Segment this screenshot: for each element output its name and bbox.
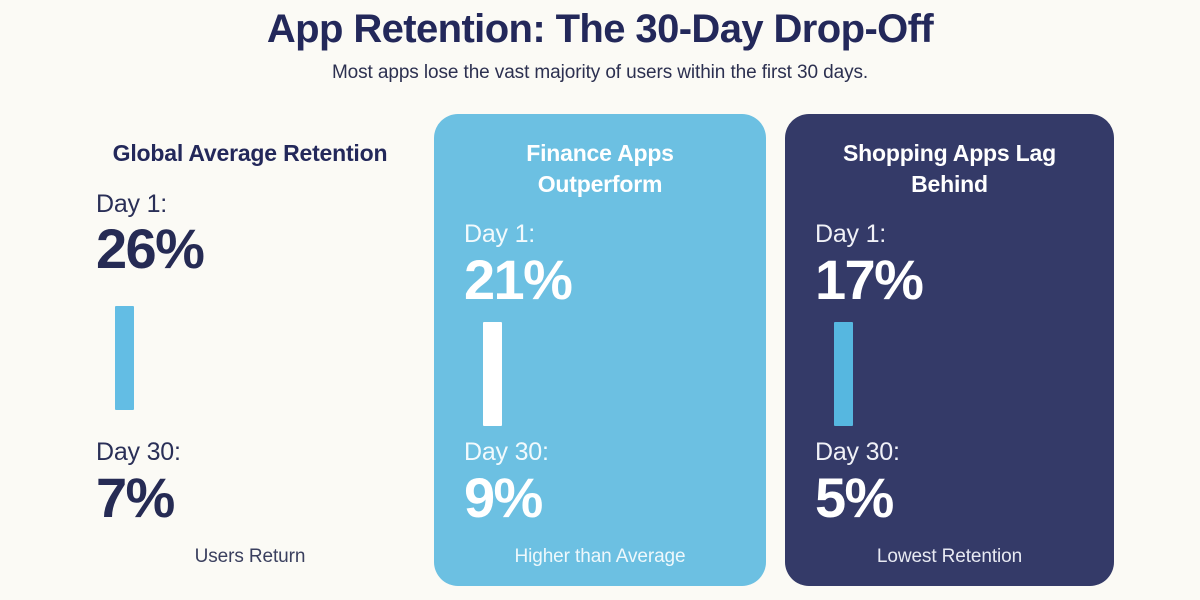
day1-value: 17% <box>815 251 1084 308</box>
day30-value: 7% <box>96 469 404 526</box>
retention-bar <box>115 306 134 410</box>
day1-label: Day 1: <box>96 191 404 219</box>
day30-value: 5% <box>815 469 1084 526</box>
day1-value: 26% <box>96 220 404 277</box>
stat-card-global-average: Global Average Retention Day 1: 26% Day … <box>66 114 434 586</box>
stat-card-finance-apps: Finance Apps Outperform Day 1: 21% Day 3… <box>434 114 766 586</box>
day30-value: 9% <box>464 469 736 526</box>
day30-stat-block: Day 30: 5% <box>815 439 1084 526</box>
card-heading: Finance Apps Outperform <box>464 138 736 199</box>
stat-cards-row: Global Average Retention Day 1: 26% Day … <box>0 114 1200 586</box>
retention-bar <box>483 322 502 426</box>
card-footer-note: Higher than Average <box>464 526 736 568</box>
page-title: App Retention: The 30-Day Drop-Off <box>0 8 1200 50</box>
day1-stat-block: Day 1: 26% <box>96 191 404 278</box>
card-footer-note: Users Return <box>96 526 404 568</box>
day30-stat-block: Day 30: 9% <box>464 439 736 526</box>
page-subtitle: Most apps lose the vast majority of user… <box>0 62 1200 84</box>
day1-label: Day 1: <box>464 221 736 249</box>
day30-label: Day 30: <box>96 439 404 467</box>
card-heading: Shopping Apps Lag Behind <box>815 138 1084 199</box>
infographic-page: App Retention: The 30-Day Drop-Off Most … <box>0 0 1200 600</box>
card-footer-note: Lowest Retention <box>815 526 1084 568</box>
day30-stat-block: Day 30: 7% <box>96 439 404 526</box>
stat-card-shopping-apps: Shopping Apps Lag Behind Day 1: 17% Day … <box>785 114 1114 586</box>
header: App Retention: The 30-Day Drop-Off Most … <box>0 0 1200 84</box>
day1-stat-block: Day 1: 17% <box>815 221 1084 308</box>
card-heading: Global Average Retention <box>96 138 404 169</box>
day1-stat-block: Day 1: 21% <box>464 221 736 308</box>
retention-bar-container <box>815 308 1084 440</box>
retention-bar <box>834 322 853 426</box>
day1-label: Day 1: <box>815 221 1084 249</box>
day1-value: 21% <box>464 251 736 308</box>
day30-label: Day 30: <box>464 439 736 467</box>
retention-bar-container <box>464 308 736 440</box>
retention-bar-container <box>96 277 404 439</box>
day30-label: Day 30: <box>815 439 1084 467</box>
